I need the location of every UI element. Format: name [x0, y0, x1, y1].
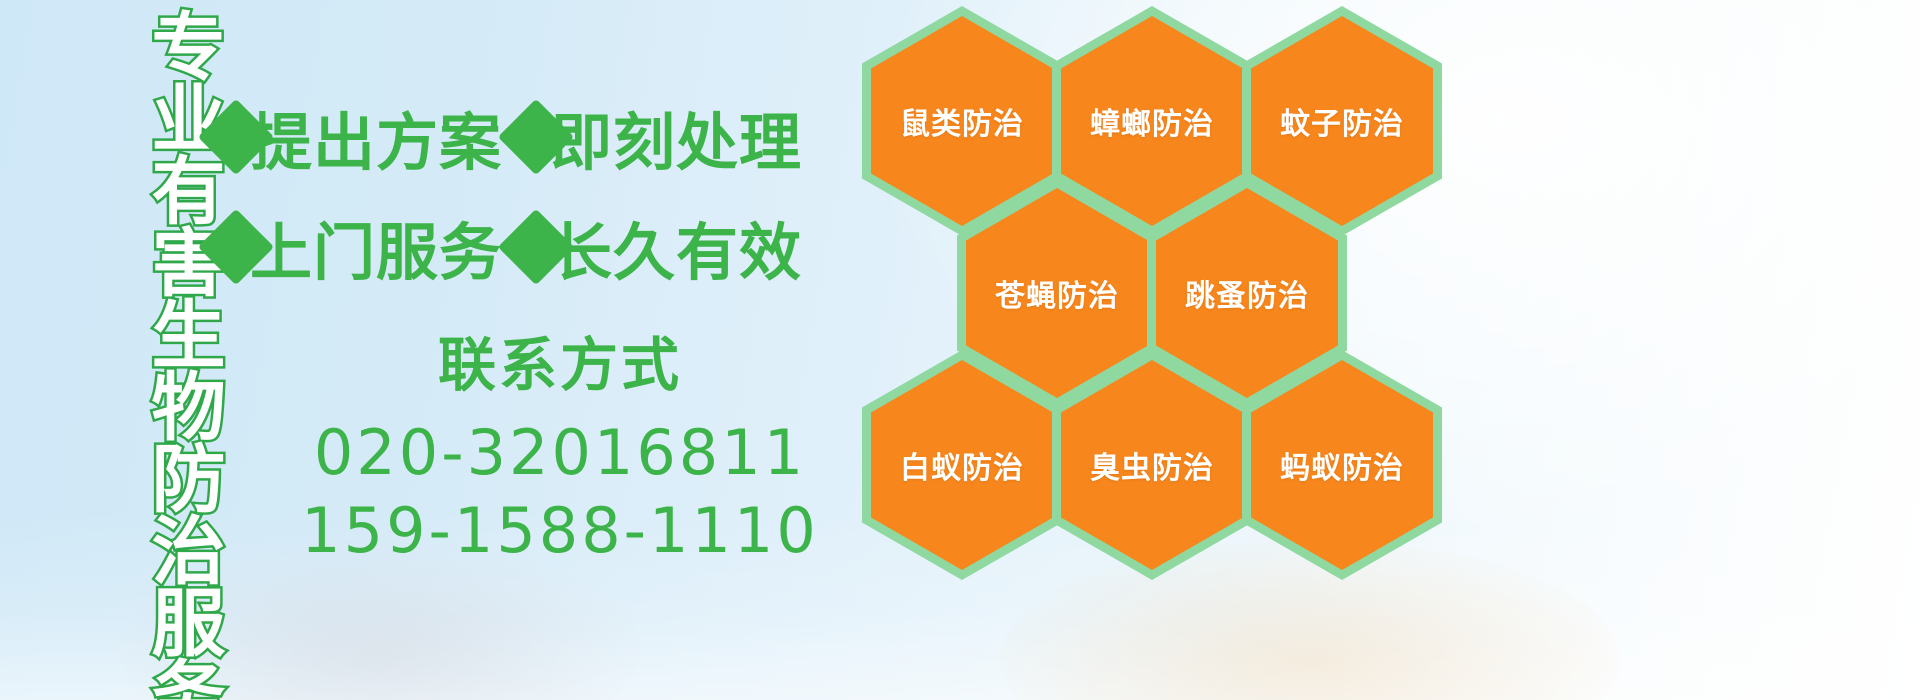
feature-item-propose-plan: 提出方案 [236, 92, 502, 182]
feature-item-door-to-door-service: 上门服务 [236, 202, 502, 292]
service-label: 蟑螂防治 [1090, 99, 1214, 143]
hex-inner: 蟑螂防治 [1061, 16, 1243, 226]
service-label: 苍蝇防治 [995, 271, 1119, 315]
feature-row-1: 提出方案 即刻处理 [236, 82, 876, 192]
feature-label: 长久有效 [550, 202, 802, 292]
service-honeycomb: 鼠类防治 蟑螂防治 蚊子防治 苍蝇防治 跳蚤防治 白蚁防治 [862, 0, 1462, 700]
hex-inner: 苍蝇防治 [966, 188, 1148, 398]
vertical-headline: 专业有害生物防治服务 [108, 8, 220, 692]
feature-list: 提出方案 即刻处理 上门服务 长久有效 [236, 82, 876, 302]
contact-phone-landline[interactable]: 020-32016811 [300, 414, 820, 492]
contact-block: 联系方式 020-32016811 159-1588-1110 [300, 318, 820, 570]
service-label: 臭虫防治 [1090, 443, 1214, 487]
feature-item-long-lasting-effect: 长久有效 [536, 202, 802, 292]
service-label: 跳蚤防治 [1185, 271, 1309, 315]
service-label: 蚂蚁防治 [1280, 443, 1404, 487]
feature-label: 上门服务 [250, 202, 502, 292]
hex-inner: 蚂蚁防治 [1251, 360, 1433, 570]
service-label: 白蚁防治 [900, 443, 1024, 487]
hex-inner: 臭虫防治 [1061, 360, 1243, 570]
feature-label: 提出方案 [250, 92, 502, 182]
contact-title: 联系方式 [300, 318, 820, 402]
feature-item-immediate-handling: 即刻处理 [536, 92, 802, 182]
service-label: 蚊子防治 [1280, 99, 1404, 143]
hex-inner: 鼠类防治 [871, 16, 1053, 226]
service-label: 鼠类防治 [900, 99, 1024, 143]
pest-control-banner: 专业有害生物防治服务 提出方案 即刻处理 上门服务 长久有效 联系方式 [0, 0, 1920, 700]
feature-label: 即刻处理 [550, 92, 802, 182]
hex-inner: 跳蚤防治 [1156, 188, 1338, 398]
hex-inner: 白蚁防治 [871, 360, 1053, 570]
hex-inner: 蚊子防治 [1251, 16, 1433, 226]
contact-phone-mobile[interactable]: 159-1588-1110 [300, 492, 820, 570]
feature-row-2: 上门服务 长久有效 [236, 192, 876, 302]
